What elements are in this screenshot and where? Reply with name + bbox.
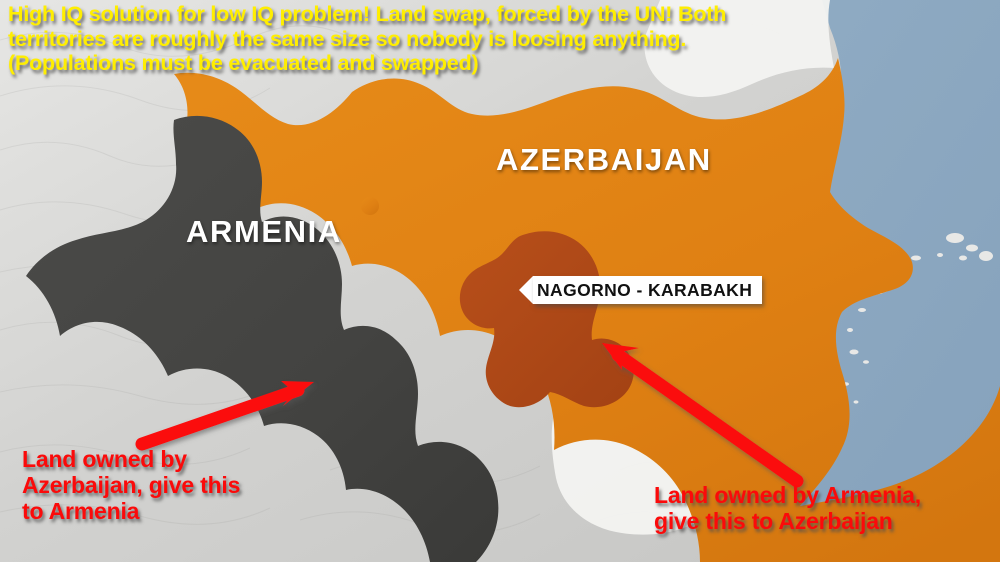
annotation-note-left: Land owned by Azerbaijan, give this to A… [22, 446, 312, 525]
headline-text: High IQ solution for low IQ problem! Lan… [8, 2, 992, 76]
country-label-armenia: ARMENIA [186, 214, 342, 250]
annotation-note-right: Land owned by Armenia, give this to Azer… [654, 482, 1000, 534]
callout-pointer-icon [519, 276, 533, 304]
country-label-azerbaijan: AZERBAIJAN [496, 142, 712, 178]
map-image: High IQ solution for low IQ problem! Lan… [0, 0, 1000, 562]
callout-label: NAGORNO - KARABAKH [533, 276, 762, 304]
nagorno-karabakh-callout: NAGORNO - KARABAKH [519, 276, 762, 304]
enclave-orange [361, 197, 379, 215]
